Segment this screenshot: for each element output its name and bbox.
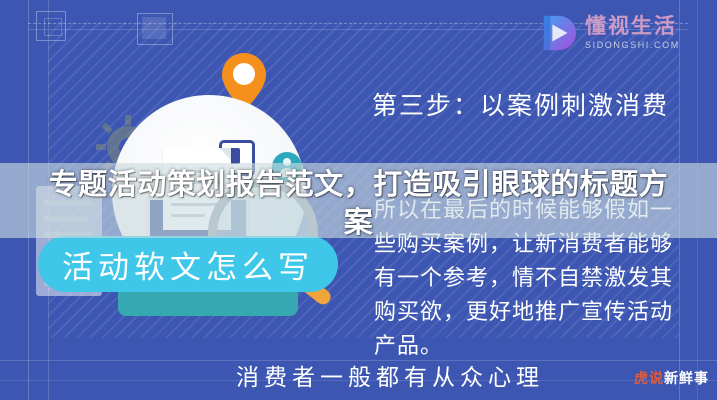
watermark-br-prefix: 虎说 — [634, 370, 664, 386]
watermark-brand-cn: 懂视生活 — [585, 16, 680, 37]
watermark-top-right: 懂视生活 SIDONGSHI.COM — [540, 14, 680, 52]
poster-image: 活动软文怎么写 第三步：以案例刺激消费 所以在最后的时候能够假如一些购买案例，让… — [0, 0, 717, 400]
watermark-bottom-right: 虎说新鲜事 — [634, 368, 709, 388]
bottom-caption: 消费者一般都有从众心理 — [236, 358, 544, 392]
page-title: 专题活动策划报告范文，打造吸引眼球的标题方案 — [0, 166, 717, 242]
watermark-brand-en: SIDONGSHI.COM — [585, 41, 680, 50]
step-heading: 第三步：以案例刺激消费 — [372, 86, 669, 122]
pill-label-text: 活动软文怎么写 — [62, 242, 314, 287]
play-triangle-d-logo-icon — [540, 14, 578, 52]
watermark-br-suffix: 新鲜事 — [664, 370, 709, 386]
pill-label: 活动软文怎么写 — [38, 236, 338, 292]
